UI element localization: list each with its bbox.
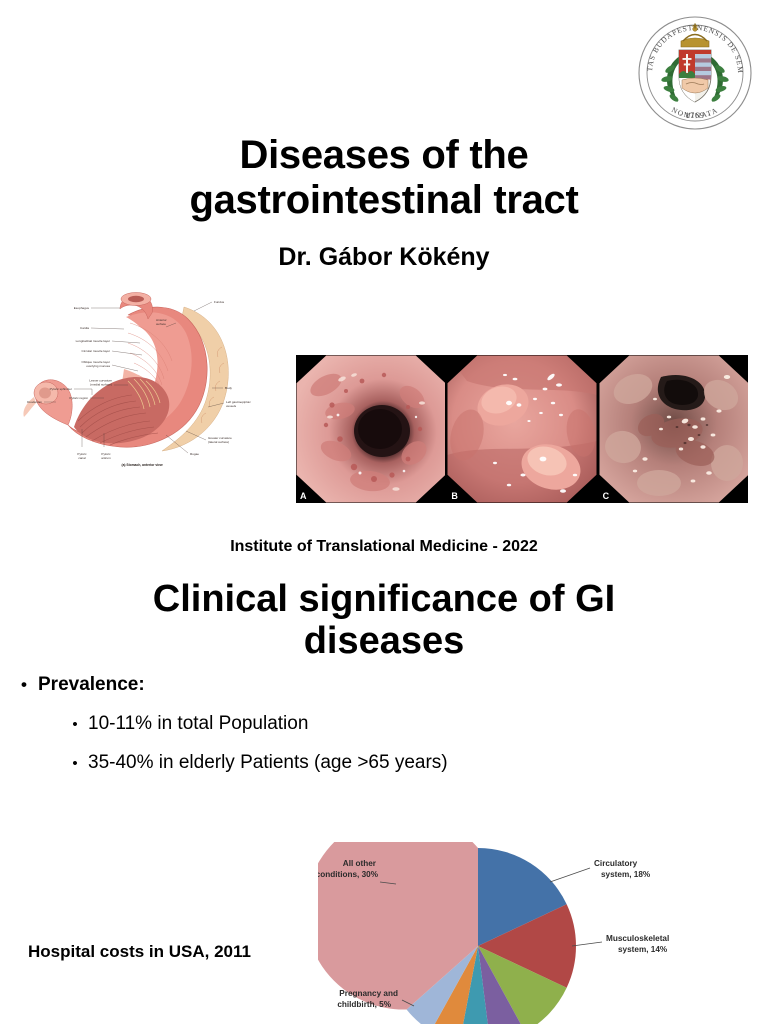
anatomy-label-cardia: Cardia [80, 326, 89, 330]
anatomy-label-greater-curvature-cont: (lateral surface) [208, 440, 229, 444]
pie-label-pregnancy-line2: childbirth, 5% [337, 1000, 391, 1009]
hospital-costs-pie-chart: Circulatory system, 18% Musculoskeletal … [318, 842, 768, 1024]
endoscopy-panel-c: C [599, 355, 748, 503]
endoscopy-panel-a: A [296, 355, 445, 503]
stomach-anatomy-figure: Esophagus Cardia Longitudinal muscle lay… [16, 285, 268, 477]
anatomy-label-pyloric-antrum-cont: antrum [101, 456, 111, 460]
pie-label-musculoskeletal-line1: Musculoskeletal [606, 934, 669, 943]
chart-caption: Hospital costs in USA, 2011 [28, 942, 251, 962]
slide2-title-line-1: Clinical significance of GI [48, 579, 720, 621]
title-line-2: gastrointestinal tract [64, 178, 704, 223]
bullet-total-population-label: 10-11% in total Population [88, 713, 308, 735]
page-title: Diseases of the gastrointestinal tract [64, 133, 704, 223]
anatomy-label-pyloric-region: Pyloric region [70, 396, 89, 400]
anatomy-label-longitudinal-muscle-layer: Longitudinal muscle layer [76, 339, 110, 343]
anatomy-label-fundus: Fundus [214, 300, 225, 304]
endoscopy-panel-label-a: A [300, 492, 307, 501]
endoscopy-panel-b: B [447, 355, 596, 503]
pie-chart-graphic: Circulatory system, 18% Musculoskeletal … [318, 842, 768, 1024]
semmelweis-university-seal-logo: UNIVERSITAS BUDAPESTINENSIS DE SEMMELWEI… [636, 14, 754, 132]
institute-footer: Institute of Translational Medicine - 20… [64, 538, 704, 556]
anatomy-label-esophagus: Esophagus [74, 306, 90, 310]
bullet-elderly-patients-label: 35-40% in elderly Patients (age >65 year… [88, 752, 448, 774]
endoscopy-image-c [599, 355, 748, 503]
anatomy-label-oblique-muscle-layer-cont: overlying mucosa [86, 364, 110, 368]
endoscopy-image-row: A [296, 355, 748, 503]
bullet-glyph-icon: • [62, 716, 88, 733]
anatomy-label-pyloric-canal-cont: canal [78, 456, 86, 460]
bullet-prevalence: • Prevalence: [10, 674, 700, 696]
svg-text:· 1769 ·: · 1769 · [679, 111, 711, 120]
bullet-total-population: • 10-11% in total Population [62, 713, 700, 735]
bullet-elderly-patients: • 35-40% in elderly Patients (age >65 ye… [62, 752, 700, 774]
anatomy-label-anterior-surface-cont: surface [156, 322, 166, 326]
pie-label-circulatory-line2: system, 18% [601, 870, 651, 879]
author-name: Dr. Gábor Kökény [64, 243, 704, 272]
pie-label-circulatory-line1: Circulatory [594, 859, 638, 868]
pie-label-all-other-line1: All other [343, 859, 377, 868]
seal-icon: UNIVERSITAS BUDAPESTINENSIS DE SEMMELWEI… [636, 14, 754, 132]
anatomy-label-lesser-curvature-cont: (medial surface) [90, 383, 112, 387]
title-line-1: Diseases of the [64, 133, 704, 178]
anatomy-label-duodenum: Duodenum [27, 400, 42, 404]
endoscopy-image-b [447, 355, 596, 503]
slide2-title-line-2: diseases [48, 621, 720, 663]
anatomy-label-circular-muscle-layer: Circular muscle layer [82, 349, 110, 353]
endoscopy-panel-label-c: C [603, 492, 610, 501]
pie-label-all-other-line2: conditions, 30% [318, 870, 379, 879]
stomach-anatomy-illustration: Esophagus Cardia Longitudinal muscle lay… [16, 285, 268, 477]
pie-label-musculoskeletal-line2: system, 14% [618, 945, 668, 954]
endoscopy-image-a [296, 355, 445, 503]
anatomy-label-left-gastroepiploic-vessels-cont: vessels [226, 404, 237, 408]
bullet-glyph-icon: • [10, 675, 38, 695]
anatomy-figure-caption: (a) Stomach, anterior view [121, 463, 162, 467]
bullet-list: • Prevalence: • 10-11% in total Populati… [0, 674, 700, 774]
anatomy-label-pyloric-sphincter: Pyloric sphincter [50, 387, 72, 391]
bullet-glyph-icon: • [62, 755, 88, 772]
slide2-title: Clinical significance of GI diseases [48, 579, 720, 663]
slide-clinical-significance: Clinical significance of GI diseases • P… [0, 570, 768, 1024]
anatomy-label-body: Body [225, 386, 232, 390]
endoscopy-panel-label-b: B [451, 492, 458, 501]
anatomy-label-rugae: Rugae [190, 452, 199, 456]
bullet-prevalence-label: Prevalence: [38, 674, 145, 696]
pie-label-pregnancy-line1: Pregnancy and [339, 989, 398, 998]
slide-title: UNIVERSITAS BUDAPESTINENSIS DE SEMMELWEI… [0, 0, 768, 570]
slide-deck-page: UNIVERSITAS BUDAPESTINENSIS DE SEMMELWEI… [0, 0, 768, 1024]
